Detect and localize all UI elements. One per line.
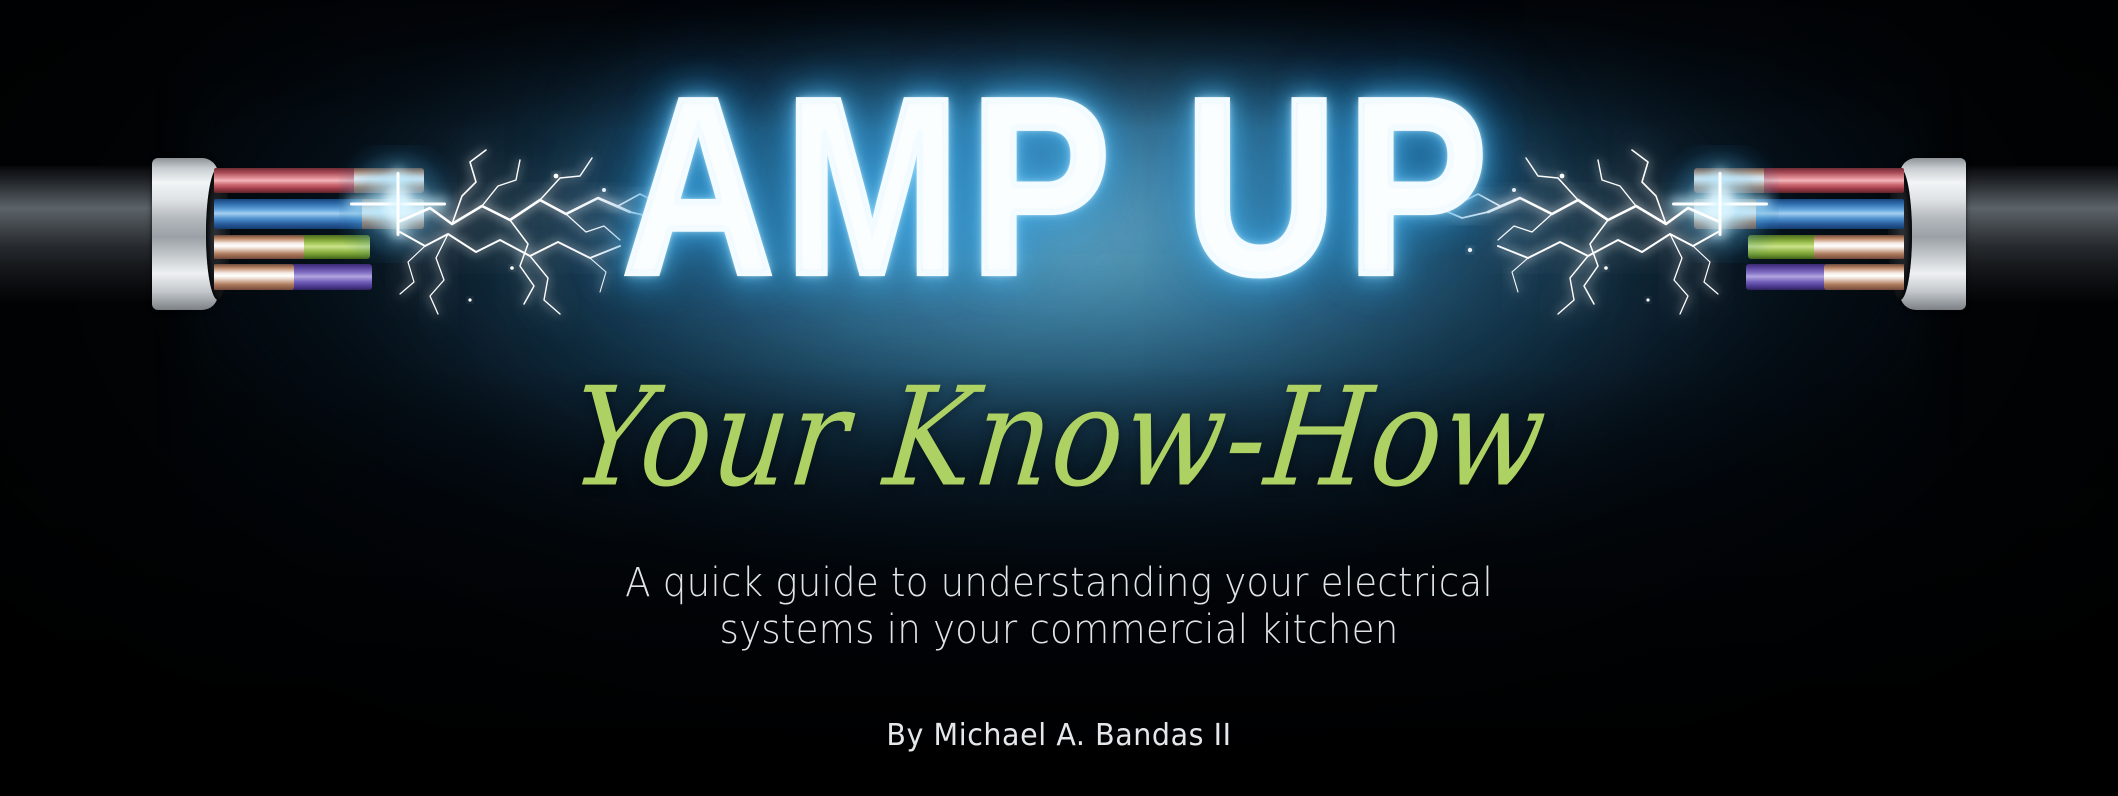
byline: By Michael A. Bandas II xyxy=(53,718,2065,753)
poster-canvas: AMP UP AMP UP Your Know-How A quick guid… xyxy=(0,0,2118,796)
subtitle: A quick guide to understanding your elec… xyxy=(74,560,2044,654)
script-headline-block: Your Know-How xyxy=(0,378,2118,496)
subtitle-line-2: systems in your commercial kitchen xyxy=(74,607,2044,654)
page-title: AMP UP xyxy=(621,61,1496,313)
script-headline: Your Know-How xyxy=(565,369,1552,506)
headline-block: AMP UP AMP UP xyxy=(0,74,2118,299)
subtitle-line-1: A quick guide to understanding your elec… xyxy=(74,560,2044,607)
